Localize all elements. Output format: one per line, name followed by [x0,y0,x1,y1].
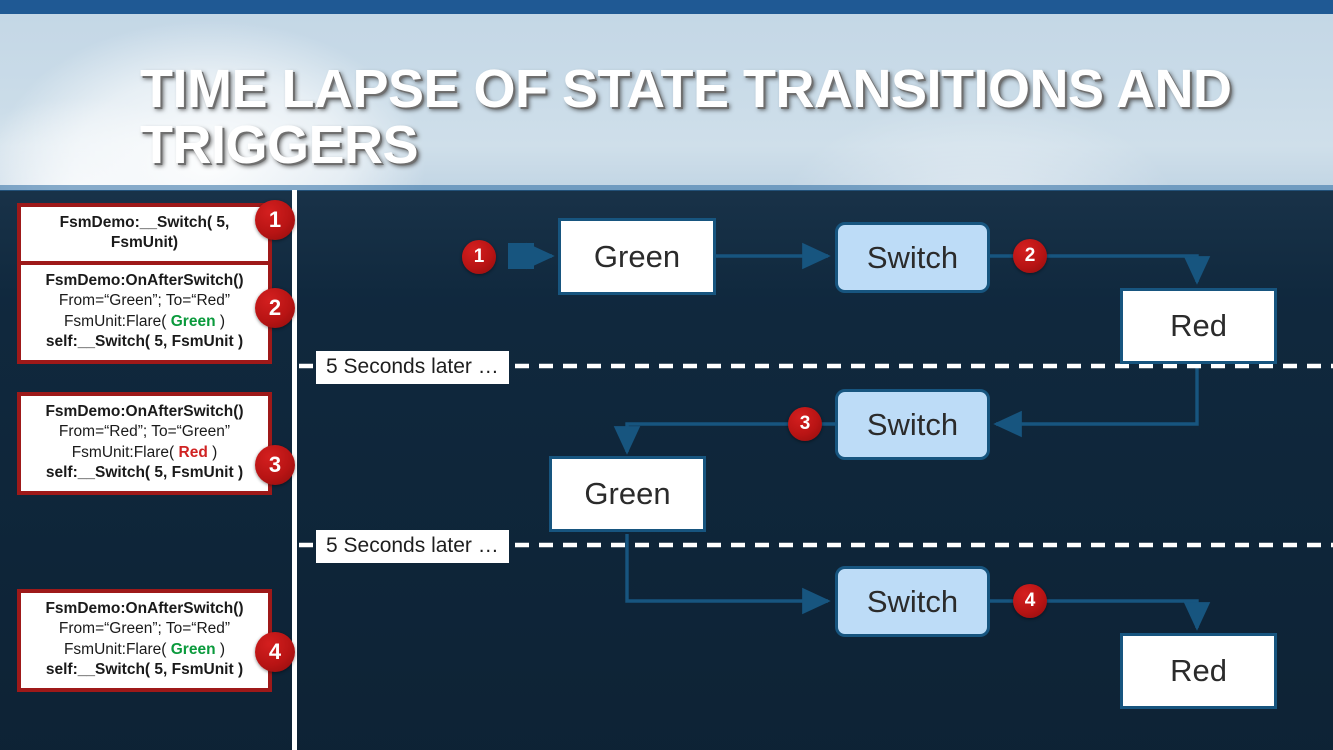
node-switch-3[interactable]: Switch [835,566,990,637]
code-flare-token: Green [171,641,216,658]
node-red-2[interactable]: Red [1120,633,1277,709]
code-line: self:__Switch( 5, FsmUnit ) [27,332,262,352]
time-separator-label-1: 5 Seconds later … [316,351,509,384]
code-block-1: FsmDemo:__Switch( 5, FsmUnit) [21,207,268,261]
start-node [508,243,534,269]
code-line: self:__Switch( 5, FsmUnit ) [27,660,262,680]
code-block-4: FsmDemo:OnAfterSwitch() From=“Green”; To… [21,593,268,688]
code-card-4[interactable]: FsmDemo:OnAfterSwitch() From=“Green”; To… [17,589,272,692]
code-block-2: FsmDemo:OnAfterSwitch() From=“Green”; To… [21,265,268,360]
diagram-badge-1: 1 [462,240,496,274]
page-title: Time Lapse of State Transitions and Trig… [140,62,1260,173]
code-flare-post: ) [216,641,225,658]
node-red-1[interactable]: Red [1120,288,1277,364]
code-line-flare: FsmUnit:Flare( Red ) [27,443,262,463]
code-flare-token: Green [171,313,216,330]
code-line-flare: FsmUnit:Flare( Green ) [27,312,262,332]
code-line: From=“Red”; To=“Green” [27,422,262,442]
node-green-1[interactable]: Green [558,218,716,295]
top-accent-bar [0,0,1333,14]
diagram-badge-4: 4 [1013,584,1047,618]
code-flare-token: Red [179,444,208,461]
code-flare-pre: FsmUnit:Flare( [64,641,171,658]
node-switch-2[interactable]: Switch [835,389,990,460]
code-flare-pre: FsmUnit:Flare( [72,444,179,461]
code-badge-2: 2 [255,288,295,328]
node-green-2[interactable]: Green [549,456,706,532]
code-flare-pre: FsmUnit:Flare( [64,313,171,330]
code-line: From=“Green”; To=“Red” [27,619,262,639]
code-line: From=“Green”; To=“Red” [27,291,262,311]
code-flare-post: ) [208,444,217,461]
diagram-badge-3: 3 [788,407,822,441]
code-card-3[interactable]: FsmDemo:OnAfterSwitch() From=“Red”; To=“… [17,392,272,495]
slide-stage: Time Lapse of State Transitions and Trig… [0,0,1333,750]
code-line: FsmDemo:OnAfterSwitch() [27,402,262,422]
node-switch-1[interactable]: Switch [835,222,990,293]
code-line: FsmDemo:OnAfterSwitch() [27,271,262,291]
code-badge-1: 1 [255,200,295,240]
code-block-3: FsmDemo:OnAfterSwitch() From=“Red”; To=“… [21,396,268,491]
code-badge-4: 4 [255,632,295,672]
title-banner: Time Lapse of State Transitions and Trig… [0,14,1333,190]
code-line: FsmUnit) [27,233,262,253]
code-flare-post: ) [216,313,225,330]
code-line: FsmDemo:__Switch( 5, [27,213,262,233]
code-line: FsmDemo:OnAfterSwitch() [27,599,262,619]
code-card-1-2[interactable]: FsmDemo:__Switch( 5, FsmUnit) FsmDemo:On… [17,203,272,364]
banner-bottom-rule [0,185,1333,191]
code-badge-3: 3 [255,445,295,485]
time-separator-label-2: 5 Seconds later … [316,530,509,563]
code-line: self:__Switch( 5, FsmUnit ) [27,463,262,483]
code-line-flare: FsmUnit:Flare( Green ) [27,640,262,660]
diagram-badge-2: 2 [1013,239,1047,273]
